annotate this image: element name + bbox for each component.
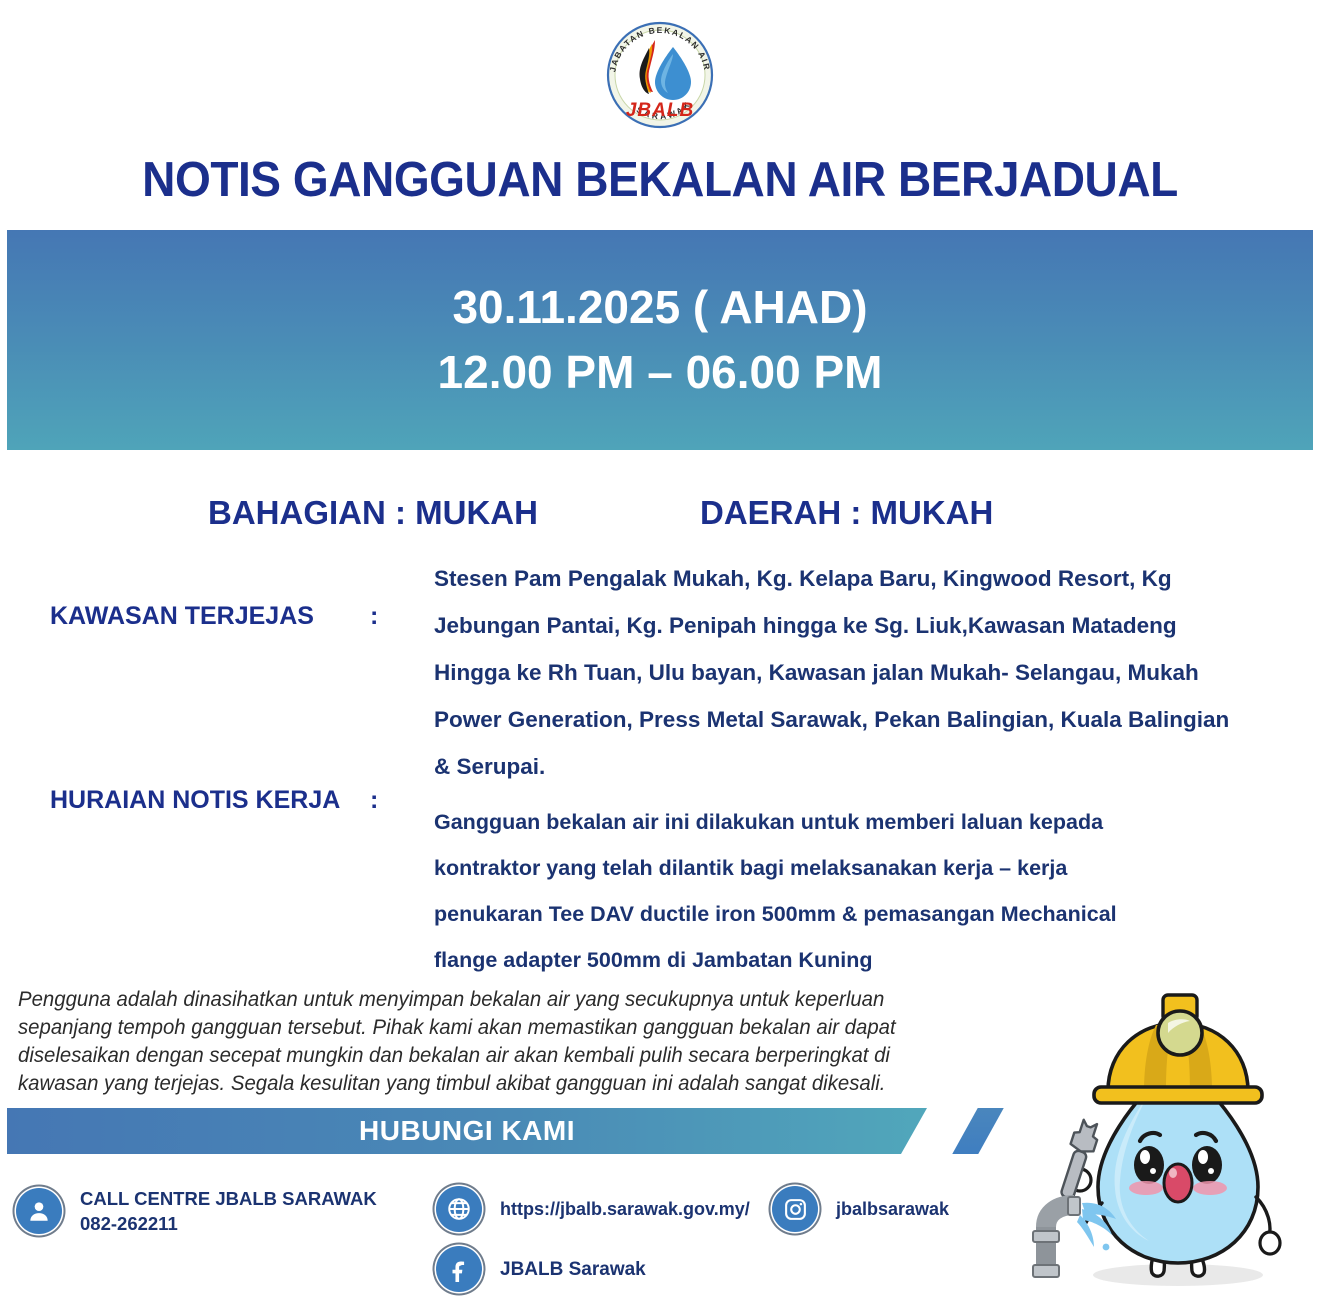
jbalb-logo-icon: JABATAN BEKALAN AIR LUAR BANDAR SARAWAK …	[595, 12, 725, 137]
work-description-value: Gangguan bekalan air ini dilakukan untuk…	[434, 799, 1234, 983]
water-droplet-mascot	[1016, 975, 1316, 1305]
contact-banner: HUBUNGI KAMI	[7, 1108, 1007, 1154]
affected-areas-line: & Serupai.	[434, 743, 1234, 790]
contact-facebook[interactable]: JBALB Sarawak	[436, 1246, 646, 1292]
contact-call-centre[interactable]: CALL CENTRE JBALB SARAWAK 082-262211	[16, 1186, 377, 1236]
affected-areas-line: Power Generation, Press Metal Sarawak, P…	[434, 696, 1234, 743]
bahagian-label: BAHAGIAN : MUKAH	[208, 494, 538, 532]
svg-text:JBALB: JBALB	[626, 100, 694, 121]
schedule-banner: 30.11.2025 ( AHAD) 12.00 PM – 06.00 PM	[7, 230, 1313, 450]
advisory-text: Pengguna adalah dinasihatkan untuk menyi…	[18, 986, 920, 1098]
person-icon	[16, 1188, 62, 1234]
affected-areas-label: KAWASAN TERJEJAS	[50, 602, 314, 631]
page-title: NOTIS GANGGUAN BEKALAN AIR BERJADUAL	[40, 152, 1281, 208]
leaking-pipe	[1033, 1197, 1080, 1277]
instagram-handle[interactable]: jbalbsarawak	[836, 1197, 949, 1222]
division-row: BAHAGIAN : MUKAH DAERAH : MUKAH	[0, 494, 1320, 538]
banner-slash-decoration	[952, 1108, 1003, 1154]
outage-time: 12.00 PM – 06.00 PM	[438, 340, 883, 405]
call-centre-number: 082-262211	[80, 1211, 377, 1236]
contact-list: CALL CENTRE JBALB SARAWAK 082-262211 htt…	[0, 1168, 1020, 1298]
contact-website[interactable]: https://jbalb.sarawak.gov.my/	[436, 1186, 750, 1232]
jbalb-logo: JABATAN BEKALAN AIR LUAR BANDAR SARAWAK …	[0, 12, 1320, 137]
work-description-line: kontraktor yang telah dilantik bagi mela…	[434, 845, 1234, 891]
water-droplet-mascot-icon	[1016, 975, 1316, 1305]
work-description-colon: :	[370, 786, 378, 815]
work-description-label: HURAIAN NOTIS KERJA	[50, 786, 340, 815]
website-url[interactable]: https://jbalb.sarawak.gov.my/	[500, 1197, 750, 1222]
contact-instagram[interactable]: jbalbsarawak	[772, 1186, 949, 1232]
affected-areas-line: Hingga ke Rh Tuan, Ulu bayan, Kawasan ja…	[434, 649, 1234, 696]
contact-heading: HUBUNGI KAMI	[7, 1108, 927, 1154]
affected-areas-colon: :	[370, 602, 378, 631]
affected-areas-value: Stesen Pam Pengalak Mukah, Kg. Kelapa Ba…	[434, 555, 1234, 790]
facebook-icon	[436, 1246, 482, 1292]
affected-areas-line: Stesen Pam Pengalak Mukah, Kg. Kelapa Ba…	[434, 555, 1234, 602]
call-centre-text: CALL CENTRE JBALB SARAWAK 082-262211	[80, 1186, 377, 1236]
affected-areas-line: Jebungan Pantai, Kg. Penipah hingga ke S…	[434, 602, 1234, 649]
work-description-line: Gangguan bekalan air ini dilakukan untuk…	[434, 799, 1234, 845]
notice-poster: JABATAN BEKALAN AIR LUAR BANDAR SARAWAK …	[0, 0, 1320, 1305]
instagram-icon	[772, 1186, 818, 1232]
outage-date: 30.11.2025 ( AHAD)	[452, 275, 867, 340]
work-description-line: penukaran Tee DAV ductile iron 500mm & p…	[434, 891, 1234, 937]
daerah-label: DAERAH : MUKAH	[700, 494, 993, 532]
globe-icon	[436, 1186, 482, 1232]
facebook-handle[interactable]: JBALB Sarawak	[500, 1257, 646, 1282]
call-centre-name: CALL CENTRE JBALB SARAWAK	[80, 1188, 377, 1209]
